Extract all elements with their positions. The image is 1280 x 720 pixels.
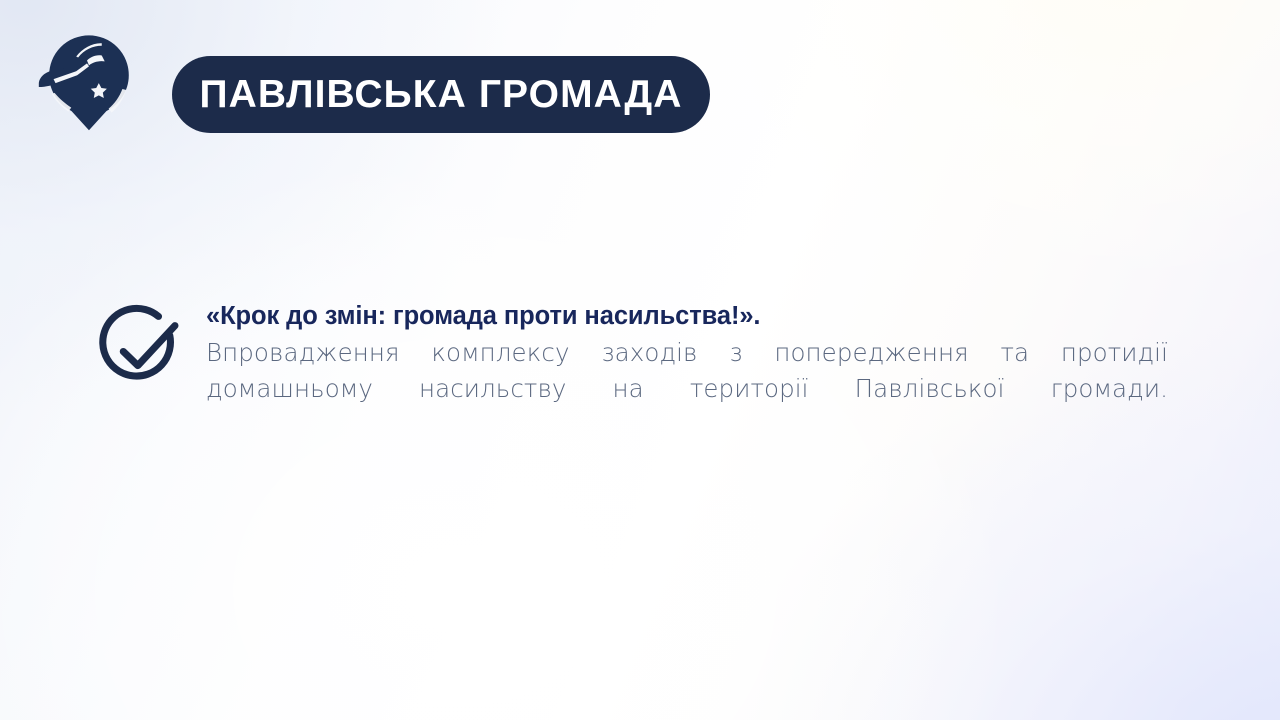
community-name-label: ПАВЛІВСЬКА ГРОМАДА <box>199 75 682 114</box>
project-text-column: «Крок до змін: громада проти насильства!… <box>190 300 1186 442</box>
main-content: «Крок до змін: громада проти насильства!… <box>96 300 1186 442</box>
check-circle-icon <box>96 304 190 398</box>
project-title: «Крок до змін: громада проти насильства!… <box>206 300 1186 334</box>
community-name-badge: ПАВЛІВСЬКА ГРОМАДА <box>172 56 710 133</box>
saluting-officer-pin-emblem-icon <box>28 28 146 146</box>
slide-canvas: ПАВЛІВСЬКА ГРОМАДА «Крок до змін: громад… <box>0 0 1280 720</box>
project-description: Впровадження комплексу заходів з поперед… <box>206 335 1168 442</box>
